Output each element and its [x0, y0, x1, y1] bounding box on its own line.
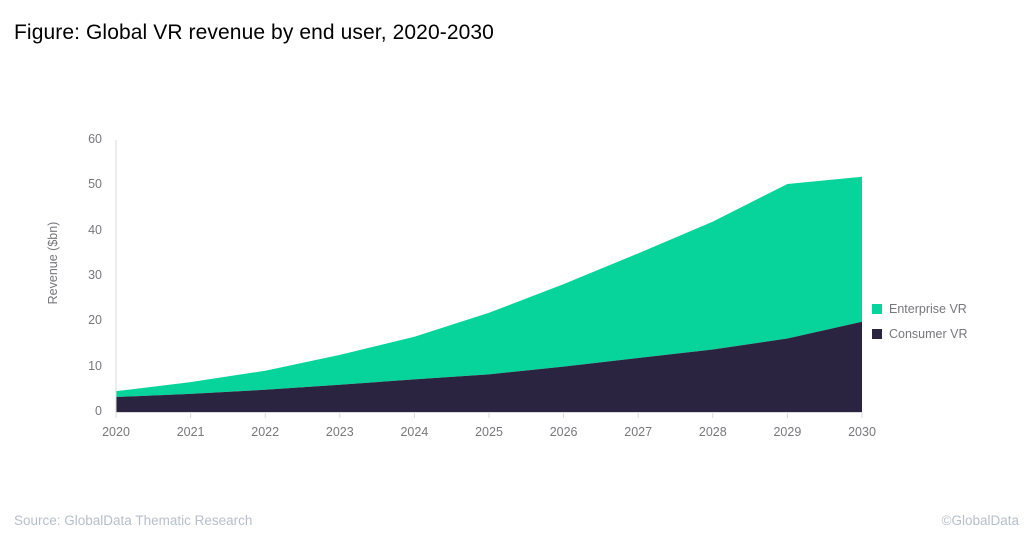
area-chart-svg [0, 0, 1035, 470]
chart-figure: Figure: Global VR revenue by end user, 2… [0, 0, 1035, 547]
legend-item-enterprise-vr[interactable]: Enterprise VR [872, 296, 968, 321]
area-series-group [116, 177, 862, 412]
legend-label-enterprise: Enterprise VR [889, 302, 967, 316]
y-tick-label: 20 [68, 313, 102, 327]
x-tick-label: 2027 [601, 425, 675, 439]
legend-label-consumer: Consumer VR [889, 327, 968, 341]
x-tick-label: 2028 [676, 425, 750, 439]
x-tick-label: 2026 [527, 425, 601, 439]
y-tick-label: 10 [68, 359, 102, 373]
x-tick-label: 2029 [750, 425, 824, 439]
plot-area: 0102030405060 20202021202220232024202520… [0, 0, 1035, 470]
x-tick-label: 2022 [228, 425, 302, 439]
x-tick-label: 2023 [303, 425, 377, 439]
y-tick-label: 30 [68, 268, 102, 282]
x-tick-label: 2024 [377, 425, 451, 439]
chart-legend: Enterprise VR Consumer VR [872, 296, 968, 346]
x-tick-label: 2030 [825, 425, 899, 439]
y-axis-title: Revenue ($bn) [46, 193, 60, 333]
x-tick-label: 2020 [79, 425, 153, 439]
x-tick-label: 2025 [452, 425, 526, 439]
legend-swatch-enterprise-icon [872, 304, 882, 314]
y-tick-label: 50 [68, 177, 102, 191]
footer-source-text: Source: GlobalData Thematic Research [14, 513, 252, 528]
legend-swatch-consumer-icon [872, 329, 882, 339]
footer-bar: Source: GlobalData Thematic Research ©Gl… [0, 495, 1035, 547]
footer-copyright-text: ©GlobalData [942, 513, 1020, 528]
y-tick-label: 0 [68, 404, 102, 418]
legend-item-consumer-vr[interactable]: Consumer VR [872, 321, 968, 346]
x-tick-label: 2021 [154, 425, 228, 439]
y-tick-label: 60 [68, 132, 102, 146]
y-tick-label: 40 [68, 223, 102, 237]
